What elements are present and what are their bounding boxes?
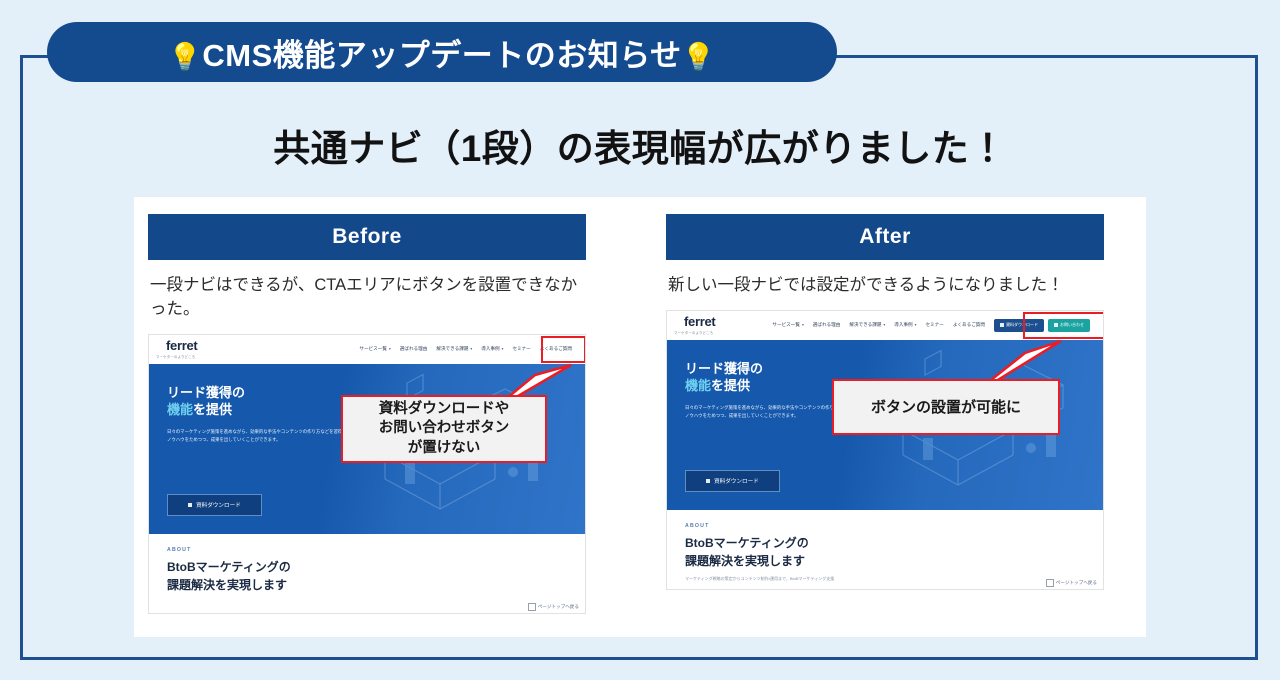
before-header: Before (148, 214, 586, 260)
banner-text-wrapper: 💡CMS機能アップデートのお知らせ💡 (168, 30, 716, 75)
about-paragraph: マーケティング戦略の策定からコンテンツ制作・運用まで、BtoBマーケティング支援 (685, 576, 1085, 582)
announcement-banner: 💡CMS機能アップデートのお知らせ💡 (47, 22, 837, 82)
nav-item-services[interactable]: サービス一覧▾ (772, 322, 803, 328)
after-description: 新しい一段ナビでは設定ができるようになりました！ (668, 274, 1102, 298)
about-heading: BtoBマーケティングの 課題解決を実現します (685, 534, 1085, 570)
page-top-link[interactable]: ページトップへ戻る (528, 603, 579, 611)
before-callout-text: 資料ダウンロードや お問い合わせボタン が置けない (379, 400, 510, 459)
after-header: After (666, 214, 1104, 260)
hero-download-button[interactable]: 資料ダウンロード (167, 494, 262, 516)
document-icon (188, 503, 192, 507)
page-top-link[interactable]: ページトップへ戻る (1046, 579, 1097, 587)
site-logo: ferret マーケターのよりどころ (674, 315, 715, 335)
site-logo-text: ferret (684, 315, 715, 328)
hero-download-label: 資料ダウンロード (196, 501, 241, 509)
about-label: ABOUT (167, 547, 567, 553)
lightbulb-icon-right: 💡 (682, 42, 716, 72)
comparison-panel: Before 一段ナビはできるが、CTAエリアにボタンを設置できなかった。 fe… (134, 197, 1146, 637)
before-description: 一段ナビはできるが、CTAエリアにボタンを設置できなかった。 (150, 274, 584, 322)
after-column: After 新しい一段ナビでは設定ができるようになりました！ ferret マー… (666, 214, 1104, 614)
site-logo: ferret マーケターのよりどころ (156, 339, 197, 359)
document-icon (706, 479, 710, 483)
banner-title: CMS機能アップデートのお知らせ (202, 38, 681, 73)
chevron-down-icon: ▾ (802, 323, 804, 327)
before-about-section: ABOUT BtoBマーケティングの 課題解決を実現します img_about_… (149, 534, 585, 614)
about-heading: BtoBマーケティングの 課題解決を実現します (167, 558, 567, 594)
broken-image-icon (1046, 579, 1054, 587)
after-about-section: ABOUT BtoBマーケティングの 課題解決を実現します マーケティング戦略の… (667, 510, 1103, 590)
hero-highlight: 機能 (167, 402, 193, 417)
page-title: 共通ナビ（1段）の表現幅が広がりました！ (0, 118, 1280, 172)
site-logo-tagline: マーケターのよりどころ (156, 354, 197, 359)
broken-image-icon (528, 603, 536, 611)
lightbulb-icon-left: 💡 (168, 42, 202, 72)
before-column: Before 一段ナビはできるが、CTAエリアにボタンを設置できなかった。 fe… (148, 214, 586, 614)
site-logo-text: ferret (166, 339, 197, 352)
after-callout-text: ボタンの設置が可能に (871, 396, 1021, 417)
comparison-columns: Before 一段ナビはできるが、CTAエリアにボタンを設置できなかった。 fe… (134, 197, 1146, 614)
before-callout-box: 資料ダウンロードや お問い合わせボタン が置けない (341, 395, 547, 463)
after-site-mockup: ferret マーケターのよりどころ サービス一覧▾ 選ばれる理由 解決できる課… (666, 310, 1104, 590)
hero-download-button[interactable]: 資料ダウンロード (685, 470, 780, 492)
before-site-mockup: ferret マーケターのよりどころ サービス一覧▾ 選ばれる理由 解決できる課… (148, 334, 586, 614)
hero-download-label: 資料ダウンロード (714, 477, 759, 485)
about-label: ABOUT (685, 523, 1085, 529)
hero-highlight: 機能 (685, 378, 711, 393)
site-logo-tagline: マーケターのよりどころ (674, 330, 715, 335)
after-callout-box: ボタンの設置が可能に (832, 379, 1060, 435)
